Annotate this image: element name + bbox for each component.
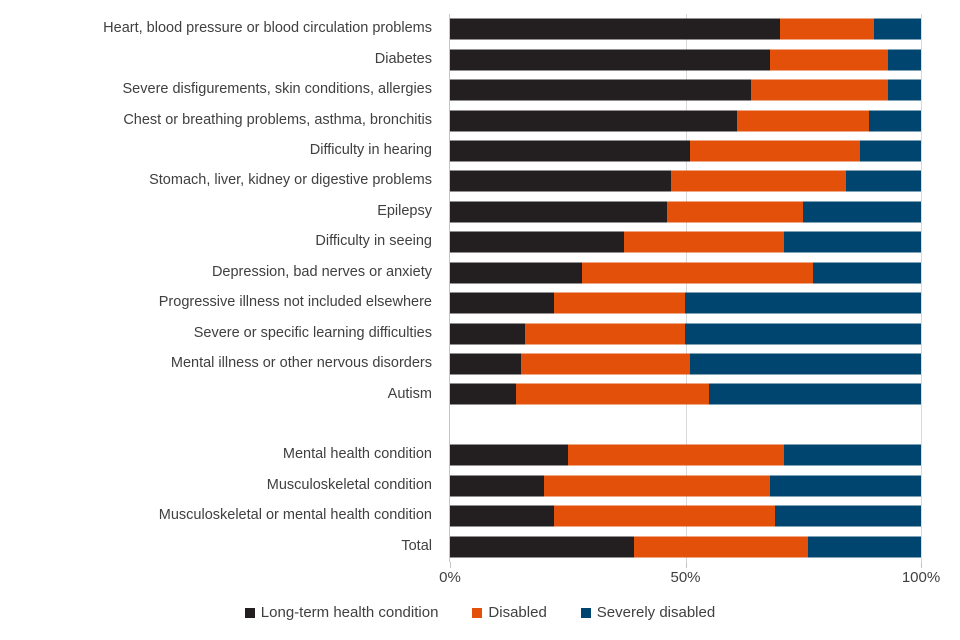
- bar-segment-2[interactable]: [784, 232, 921, 253]
- bar-segment-0[interactable]: [450, 293, 554, 314]
- bar-segment-0[interactable]: [450, 384, 516, 405]
- stacked-bar[interactable]: [450, 506, 921, 527]
- bar-segment-1[interactable]: [690, 140, 860, 161]
- bar-segment-1[interactable]: [671, 171, 845, 192]
- stacked-bar[interactable]: [450, 201, 921, 222]
- bar-segment-1[interactable]: [521, 354, 691, 375]
- axis-tick-label: 100%: [902, 569, 940, 586]
- bar-segment-0[interactable]: [450, 140, 690, 161]
- bar-row: [450, 471, 921, 501]
- bar-segment-1[interactable]: [634, 536, 808, 557]
- legend-label: Severely disabled: [597, 604, 715, 621]
- category-label: Stomach, liver, kidney or digestive prob…: [0, 166, 440, 196]
- axis-tick-label: 0%: [439, 569, 461, 586]
- bar-segment-1[interactable]: [554, 293, 686, 314]
- stacked-bar[interactable]: [450, 232, 921, 253]
- bar-segment-2[interactable]: [846, 171, 921, 192]
- stacked-bar[interactable]: [450, 445, 921, 466]
- bar-segment-2[interactable]: [860, 140, 921, 161]
- stacked-bar[interactable]: [450, 171, 921, 192]
- stacked-bar[interactable]: [450, 536, 921, 557]
- bar-segment-0[interactable]: [450, 354, 521, 375]
- bar-segment-1[interactable]: [554, 506, 775, 527]
- stacked-bar[interactable]: [450, 323, 921, 344]
- stacked-bar[interactable]: [450, 384, 921, 405]
- stacked-bar[interactable]: [450, 293, 921, 314]
- category-label: Epilepsy: [0, 197, 440, 227]
- bar-row: [450, 105, 921, 135]
- bar-segment-0[interactable]: [450, 80, 751, 101]
- bar-segment-2[interactable]: [813, 262, 921, 283]
- bar-segment-2[interactable]: [685, 293, 921, 314]
- category-label: Depression, bad nerves or anxiety: [0, 258, 440, 288]
- value-axis: 0%50%100%: [450, 562, 921, 588]
- category-label: Mental illness or other nervous disorder…: [0, 349, 440, 379]
- bar-segment-2[interactable]: [709, 384, 921, 405]
- bar-row: [450, 166, 921, 196]
- bar-segment-2[interactable]: [775, 506, 921, 527]
- bar-segment-0[interactable]: [450, 262, 582, 283]
- legend-swatch-icon: [581, 608, 591, 618]
- legend-item[interactable]: Long-term health condition: [245, 604, 439, 621]
- category-label: Musculoskeletal or mental health conditi…: [0, 501, 440, 531]
- stacked-bar[interactable]: [450, 49, 921, 70]
- legend-item[interactable]: Severely disabled: [581, 604, 715, 621]
- bar-segment-0[interactable]: [450, 323, 525, 344]
- category-label: Heart, blood pressure or blood circulati…: [0, 14, 440, 44]
- category-label: Chest or breathing problems, asthma, bro…: [0, 105, 440, 135]
- category-label: Diabetes: [0, 44, 440, 74]
- category-label: Difficulty in hearing: [0, 136, 440, 166]
- bar-segment-2[interactable]: [874, 19, 921, 40]
- bar-segment-0[interactable]: [450, 19, 780, 40]
- bar-row-spacer: [450, 410, 921, 440]
- bar-segment-0[interactable]: [450, 49, 770, 70]
- category-label: Musculoskeletal condition: [0, 471, 440, 501]
- legend-item[interactable]: Disabled: [472, 604, 546, 621]
- stacked-bar-chart: Heart, blood pressure or blood circulati…: [0, 0, 960, 640]
- bar-segment-1[interactable]: [780, 19, 874, 40]
- bar-segment-1[interactable]: [582, 262, 813, 283]
- bar-segment-2[interactable]: [888, 80, 921, 101]
- category-label: Difficulty in seeing: [0, 227, 440, 257]
- bar-segment-1[interactable]: [737, 110, 869, 131]
- category-label: Total: [0, 531, 440, 561]
- bar-row: [450, 227, 921, 257]
- stacked-bar[interactable]: [450, 262, 921, 283]
- bar-row: [450, 440, 921, 470]
- category-label-spacer: [0, 410, 440, 440]
- bar-row: [450, 379, 921, 409]
- bar-row: [450, 136, 921, 166]
- bar-segment-1[interactable]: [516, 384, 709, 405]
- bar-segment-1[interactable]: [544, 475, 770, 496]
- bar-row: [450, 501, 921, 531]
- legend-label: Long-term health condition: [261, 604, 439, 621]
- bar-segment-1[interactable]: [525, 323, 685, 344]
- bar-rows: [450, 14, 921, 562]
- bar-segment-0[interactable]: [450, 110, 737, 131]
- axis-tick-label: 50%: [670, 569, 700, 586]
- bar-row: [450, 318, 921, 348]
- bar-segment-2[interactable]: [690, 354, 921, 375]
- bar-row: [450, 197, 921, 227]
- bar-segment-2[interactable]: [685, 323, 921, 344]
- category-axis-labels: Heart, blood pressure or blood circulati…: [0, 14, 440, 562]
- bar-segment-1[interactable]: [751, 80, 888, 101]
- category-label: Severe or specific learning difficulties: [0, 318, 440, 348]
- bar-row: [450, 14, 921, 44]
- bar-segment-0[interactable]: [450, 506, 554, 527]
- bar-segment-0[interactable]: [450, 475, 544, 496]
- category-label: Mental health condition: [0, 440, 440, 470]
- bar-segment-0[interactable]: [450, 201, 667, 222]
- bar-segment-0[interactable]: [450, 232, 624, 253]
- bar-segment-0[interactable]: [450, 171, 671, 192]
- bar-segment-2[interactable]: [770, 475, 921, 496]
- plot-area: [450, 14, 921, 562]
- axis-tick-mark: [450, 562, 451, 568]
- legend-swatch-icon: [472, 608, 482, 618]
- stacked-bar[interactable]: [450, 354, 921, 375]
- bar-segment-2[interactable]: [869, 110, 921, 131]
- bar-segment-0[interactable]: [450, 445, 568, 466]
- category-label: Progressive illness not included elsewhe…: [0, 288, 440, 318]
- axis-tick-mark: [921, 562, 922, 568]
- stacked-bar[interactable]: [450, 140, 921, 161]
- category-label: Severe disfigurements, skin conditions, …: [0, 75, 440, 105]
- bar-segment-1[interactable]: [624, 232, 784, 253]
- chart-legend: Long-term health conditionDisabledSevere…: [0, 604, 960, 621]
- bar-segment-1[interactable]: [770, 49, 888, 70]
- legend-swatch-icon: [245, 608, 255, 618]
- stacked-bar[interactable]: [450, 110, 921, 131]
- bar-segment-1[interactable]: [568, 445, 785, 466]
- bar-row: [450, 44, 921, 74]
- stacked-bar[interactable]: [450, 80, 921, 101]
- bar-row: [450, 288, 921, 318]
- bar-segment-2[interactable]: [808, 536, 921, 557]
- bar-segment-2[interactable]: [784, 445, 921, 466]
- bar-segment-2[interactable]: [803, 201, 921, 222]
- stacked-bar[interactable]: [450, 19, 921, 40]
- bar-segment-1[interactable]: [667, 201, 804, 222]
- gridline-100: [921, 14, 922, 562]
- stacked-bar[interactable]: [450, 475, 921, 496]
- bar-row: [450, 349, 921, 379]
- bar-row: [450, 258, 921, 288]
- category-label: Autism: [0, 379, 440, 409]
- legend-label: Disabled: [488, 604, 546, 621]
- bar-row: [450, 531, 921, 561]
- axis-tick-mark: [686, 562, 687, 568]
- bar-row: [450, 75, 921, 105]
- bar-segment-0[interactable]: [450, 536, 634, 557]
- bar-segment-2[interactable]: [888, 49, 921, 70]
